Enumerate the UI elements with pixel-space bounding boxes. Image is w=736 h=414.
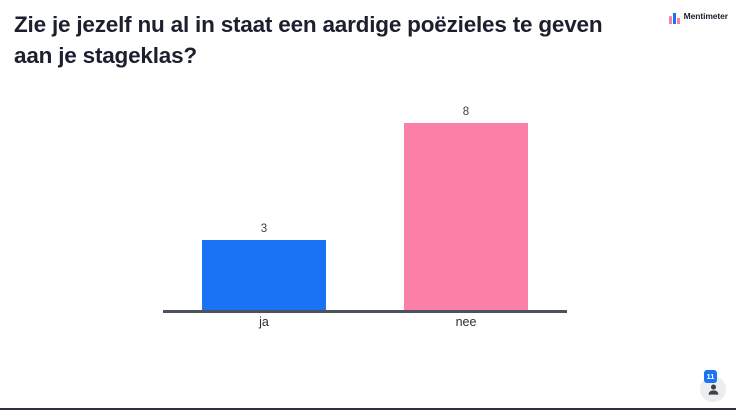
participant-count-badge: 11 [704,370,717,383]
bottom-divider [0,408,736,410]
x-label-slot-nee: nee [365,313,567,331]
chart-bars: 3 8 [163,95,567,310]
page-title: Zie je jezelf nu al in staat een aardige… [14,9,634,71]
x-label-slot-ja: ja [163,313,365,331]
chart-plot-area: 3 8 [163,95,567,310]
bar-ja[interactable] [202,240,326,310]
participant-counter[interactable]: 11 [700,376,726,402]
person-icon [707,383,720,396]
mentimeter-bars-icon [669,11,680,22]
slide-canvas: Zie je jezelf nu al in staat een aardige… [0,0,736,414]
bar-value-label: 8 [463,105,469,119]
chart-x-axis-labels: ja nee [163,313,567,331]
mentimeter-logo: Mentimeter [669,11,728,22]
bar-value-label: 3 [261,222,267,236]
x-axis-label-ja: ja [259,315,269,329]
bar-nee[interactable] [404,123,528,310]
bar-group-nee: 8 [365,95,567,310]
bar-chart: 3 8 ja nee [163,95,567,335]
x-axis-label-nee: nee [456,315,477,329]
mentimeter-wordmark: Mentimeter [684,11,728,22]
bar-group-ja: 3 [163,95,365,310]
